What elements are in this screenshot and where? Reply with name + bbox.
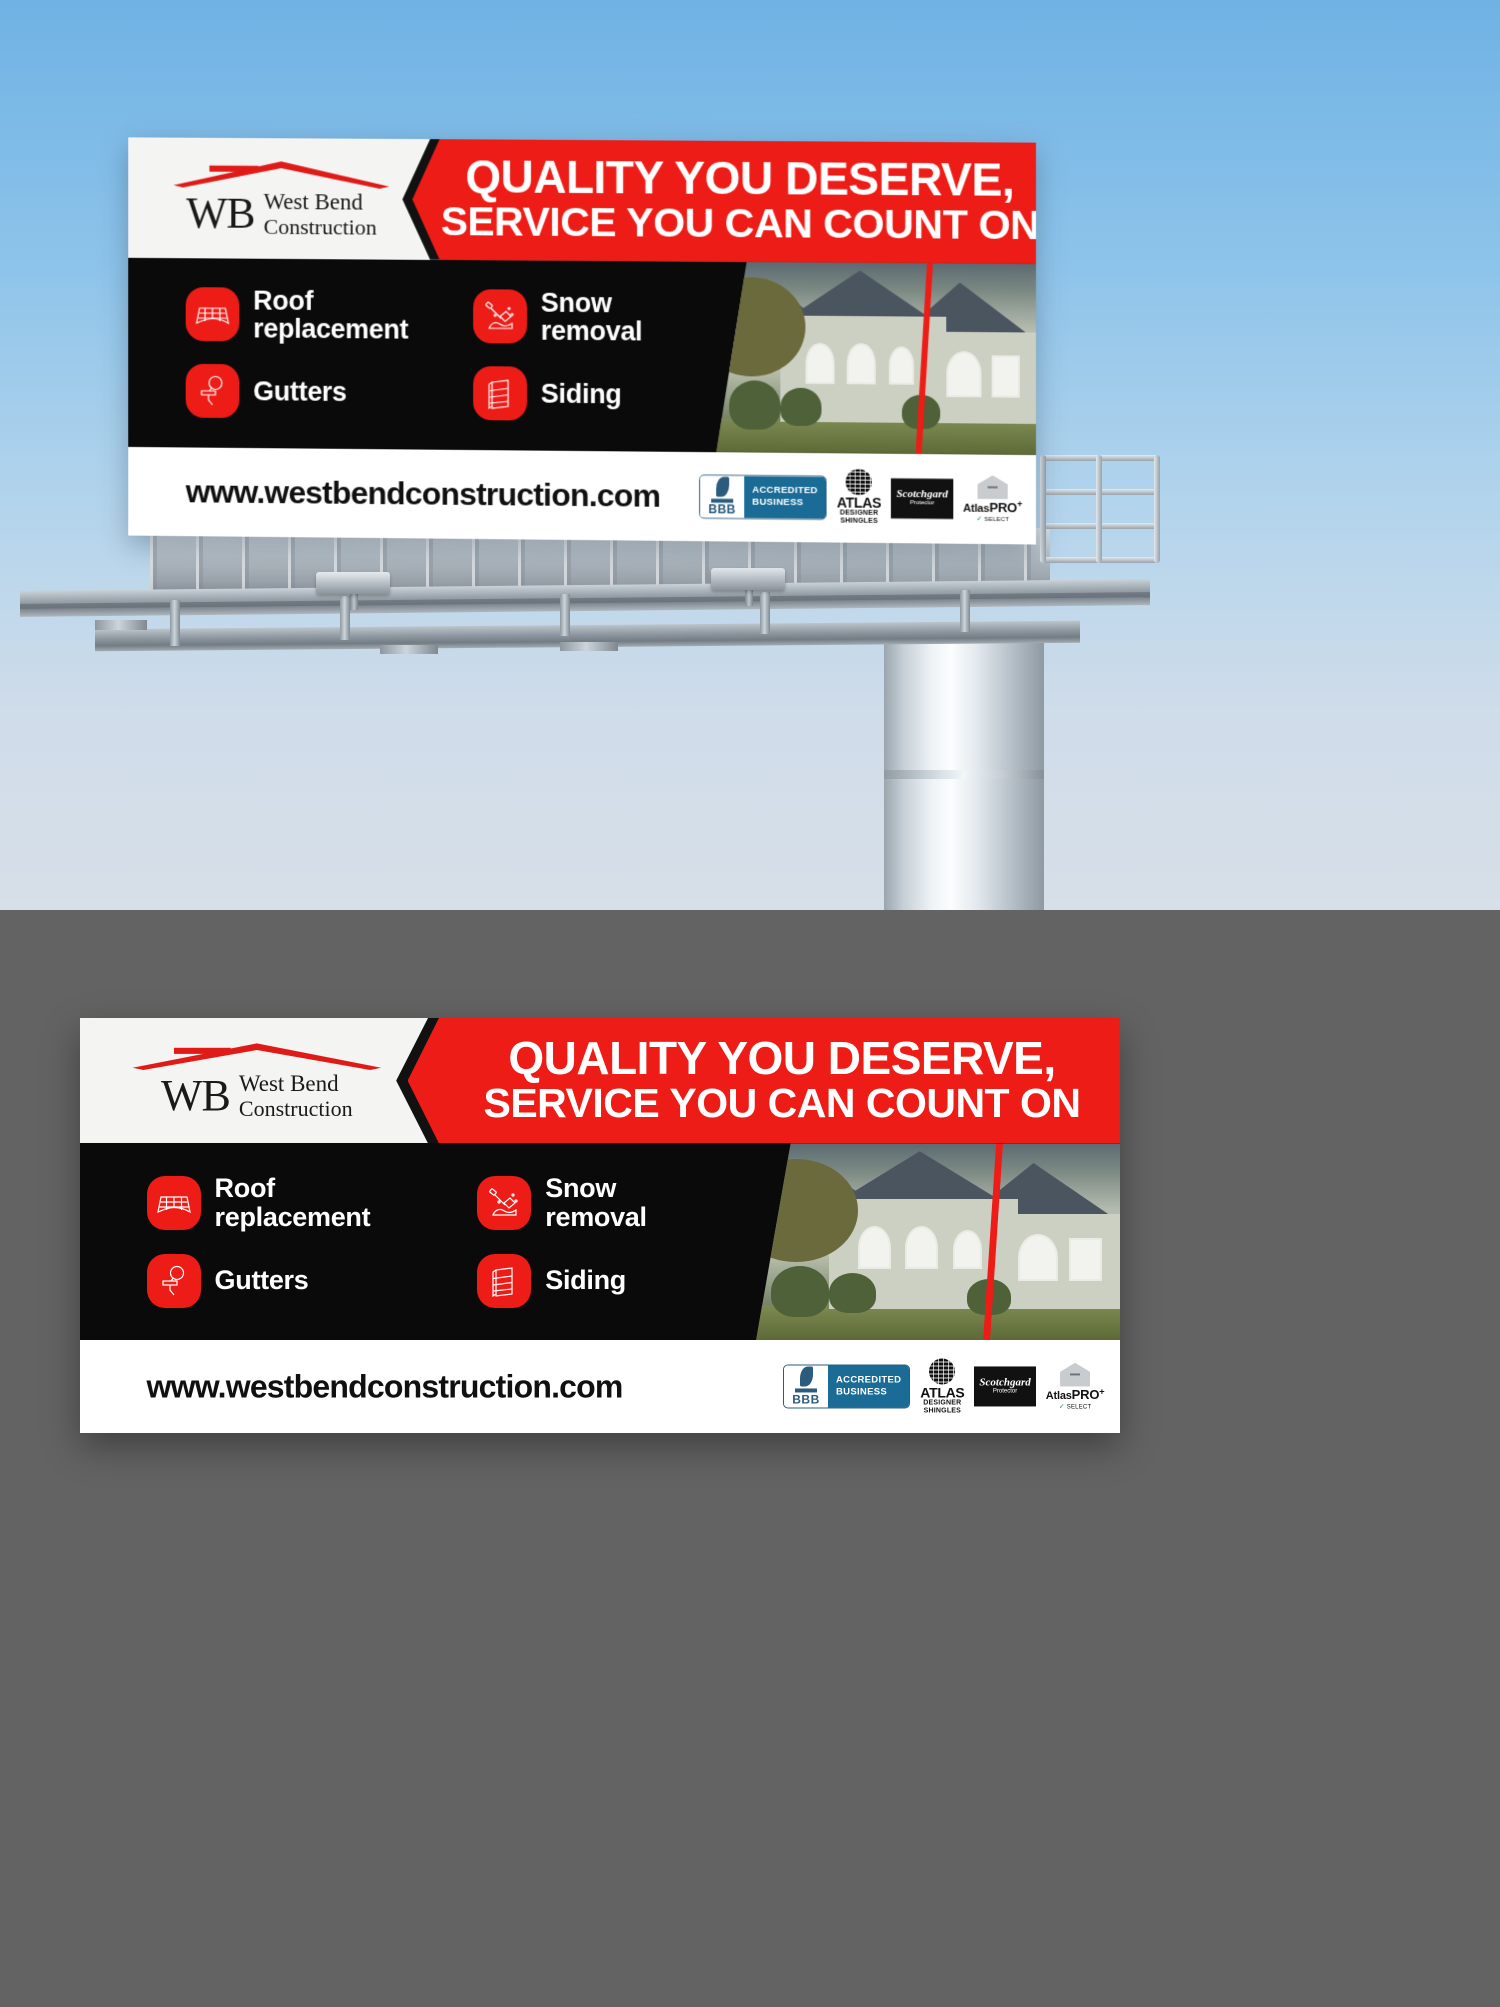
support-strut (340, 596, 350, 640)
support-strut (960, 590, 970, 632)
apro-sup: + (1099, 1387, 1104, 1397)
logo-wordmark: West Bend Construction (264, 190, 377, 239)
apro-line-2: SELECT (1067, 1405, 1092, 1411)
support-strut (170, 600, 180, 646)
bbb-torch-icon (800, 1367, 813, 1387)
suburban-house-photo (756, 1143, 1120, 1340)
service-label: Gutters (215, 1266, 309, 1295)
service-label: Siding (541, 380, 622, 409)
siding-icon (477, 1254, 531, 1308)
apro-title-b: PRO (989, 500, 1017, 515)
globe-icon (846, 469, 872, 495)
headline-line-2: SERVICE YOU CAN COUNT ON (483, 1081, 1080, 1127)
service-label-line-2: replacement (215, 1202, 371, 1232)
service-railing (1040, 455, 1160, 595)
apro-check-icon: ✓ (976, 516, 982, 523)
globe-icon (929, 1358, 955, 1384)
service-label: Snow removal (541, 288, 642, 346)
support-strut (560, 594, 570, 636)
service-label-line-1: Siding (541, 379, 622, 410)
apro-line-2: SELECT (984, 517, 1009, 523)
house-outline-icon (978, 475, 1008, 499)
billboard-light (316, 572, 390, 594)
bbb-line-1: ACCREDITED (752, 485, 818, 498)
billboard-mockup-scene: QUALITY YOU DESERVE, SERVICE YOU CAN COU… (0, 0, 1500, 910)
artwork-footer: www.westbendconstruction.com BBB ACCREDI… (128, 447, 1036, 545)
service-item: Siding (477, 1254, 808, 1308)
roof-tile-icon (186, 287, 240, 341)
apro-title-a: Atlas (1046, 1390, 1072, 1402)
atlas-pro-plus-select-badge: AtlasPRO+ ✓ SELECT (963, 475, 1022, 524)
service-item: Gutters (147, 1254, 478, 1308)
website-url: www.westbendconstruction.com (147, 1368, 623, 1405)
logo-name-line-2: Construction (264, 215, 377, 239)
headline-block: QUALITY YOU DESERVE, SERVICE YOU CAN COU… (455, 1018, 1110, 1143)
headline-panel: QUALITY YOU DESERVE, SERVICE YOU CAN COU… (412, 139, 1036, 264)
service-item: Gutters (186, 364, 473, 420)
cross-brace (380, 645, 438, 654)
bbb-mark: BBB (708, 503, 736, 517)
apro-title-a: Atlas (963, 503, 989, 515)
apro-title-b: PRO (1072, 1387, 1100, 1402)
service-label-line-2: removal (545, 1202, 646, 1232)
service-label-line-1: Gutters (215, 1265, 309, 1295)
bbb-line-2: BUSINESS (836, 1387, 901, 1399)
logo-name-line-1: West Bend (264, 190, 377, 215)
logo-monogram: WB (161, 1076, 230, 1116)
services-grid: Roof replacement (128, 258, 762, 453)
atlas-designer-shingles-badge: ATLAS DESIGNER SHINGLES (837, 469, 881, 527)
atlas-line-1: DESIGNER (920, 1399, 964, 1407)
website-url: www.westbendconstruction.com (186, 473, 660, 514)
billboard-face-mounted: QUALITY YOU DESERVE, SERVICE YOU CAN COU… (128, 137, 1036, 544)
scotchgard-line-1: Protector (993, 1389, 1017, 1396)
services-grid: Roof replacement (80, 1143, 808, 1340)
scotchgard-line-1: Protector (910, 500, 935, 507)
service-label: Snow removal (545, 1174, 646, 1231)
service-label-line-1: Roof (253, 285, 313, 315)
certification-badges: BBB ACCREDITED BUSINESS ATLAS DESIGNER S… (783, 1358, 1104, 1415)
headline-block: QUALITY YOU DESERVE, SERVICE YOU CAN COU… (453, 139, 1026, 264)
billboard-light (711, 568, 785, 590)
billboard-artwork-flat: QUALITY YOU DESERVE, SERVICE YOU CAN COU… (80, 1018, 1120, 1433)
artwork-services-band: Roof replacement (80, 1143, 1120, 1340)
service-item: Siding (473, 366, 762, 422)
service-item: Snow removal (477, 1174, 808, 1231)
roof-tile-icon (147, 1176, 201, 1230)
artwork-header: QUALITY YOU DESERVE, SERVICE YOU CAN COU… (128, 137, 1036, 264)
billboard-artwork: QUALITY YOU DESERVE, SERVICE YOU CAN COU… (80, 1018, 1120, 1433)
service-label-line-1: Roof (215, 1173, 275, 1203)
company-logo: WB West Bend Construction (80, 1018, 434, 1143)
service-item: Roof replacement (186, 286, 473, 345)
headline-panel: QUALITY YOU DESERVE, SERVICE YOU CAN COU… (408, 1018, 1120, 1143)
service-item: Roof replacement (147, 1174, 478, 1231)
atlas-title: ATLAS (837, 496, 881, 510)
scotchgard-badge: Scotchgard Protector (974, 1367, 1035, 1407)
scotchgard-title: Scotchgard (896, 489, 948, 501)
bbb-line-1: ACCREDITED (836, 1375, 901, 1387)
service-label-line-1: Siding (545, 1265, 626, 1295)
bbb-accredited-business-badge: BBB ACCREDITED BUSINESS (783, 1365, 910, 1409)
atlas-line-2: SHINGLES (837, 518, 881, 526)
apro-check-icon: ✓ (1059, 1404, 1065, 1411)
suburban-house-photo (716, 262, 1036, 455)
cross-brace (95, 620, 147, 630)
atlas-title: ATLAS (920, 1385, 964, 1399)
logo-name-line-2: Construction (239, 1097, 353, 1121)
scotchgard-title: Scotchgard (979, 1378, 1030, 1389)
cross-brace (560, 642, 618, 651)
artwork-services-band: Roof replacement (128, 258, 1036, 455)
artwork-header: QUALITY YOU DESERVE, SERVICE YOU CAN COU… (80, 1018, 1120, 1143)
bbb-mark: BBB (792, 1393, 820, 1407)
apro-sup: + (1017, 500, 1022, 510)
service-label: Roof replacement (215, 1174, 371, 1231)
logo-monogram: WB (186, 194, 254, 235)
service-label-line-1: Gutters (253, 376, 346, 407)
house-outline-icon (1060, 1363, 1090, 1387)
service-label-line-1: Snow (541, 287, 612, 318)
service-label-line-2: removal (541, 316, 642, 347)
service-label: Siding (545, 1266, 626, 1295)
snow-shovel-icon (473, 290, 527, 344)
atlas-line-2: SHINGLES (920, 1407, 964, 1415)
artwork-footer: www.westbendconstruction.com BBB ACCREDI… (80, 1340, 1120, 1433)
logo-name-line-1: West Bend (239, 1072, 353, 1097)
certification-badges: BBB ACCREDITED BUSINESS ATLAS D (699, 468, 1022, 528)
support-strut (760, 592, 770, 634)
headline-line-2: SERVICE YOU CAN COUNT ON (441, 200, 1036, 250)
bbb-torch-icon (716, 477, 729, 497)
service-label: Roof replacement (253, 286, 408, 344)
roofline-mark-icon (168, 158, 395, 189)
gutter-icon (186, 364, 240, 418)
service-item: Snow removal (473, 288, 762, 347)
bbb-accredited-business-badge: BBB ACCREDITED BUSINESS (699, 474, 827, 519)
siding-icon (473, 366, 527, 420)
headline-line-1: QUALITY YOU DESERVE, (508, 1035, 1055, 1081)
atlas-pro-plus-select-badge: AtlasPRO+ ✓ SELECT (1046, 1363, 1105, 1411)
roofline-mark-icon (126, 1040, 388, 1070)
pole-band (884, 770, 1044, 779)
service-label-line-1: Snow (545, 1173, 616, 1203)
scotchgard-badge: Scotchgard Protector (891, 478, 953, 519)
service-label-line-2: replacement (253, 314, 408, 345)
gutter-icon (147, 1254, 201, 1308)
atlas-designer-shingles-badge: ATLAS DESIGNER SHINGLES (920, 1358, 964, 1415)
headline-line-1: QUALITY YOU DESERVE, (465, 154, 1014, 203)
snow-shovel-icon (477, 1176, 531, 1230)
bbb-line-2: BUSINESS (752, 497, 818, 510)
service-label: Gutters (253, 377, 346, 406)
company-logo: WB West Bend Construction (128, 137, 435, 259)
billboard-artwork: QUALITY YOU DESERVE, SERVICE YOU CAN COU… (128, 137, 1036, 544)
logo-wordmark: West Bend Construction (239, 1072, 353, 1121)
